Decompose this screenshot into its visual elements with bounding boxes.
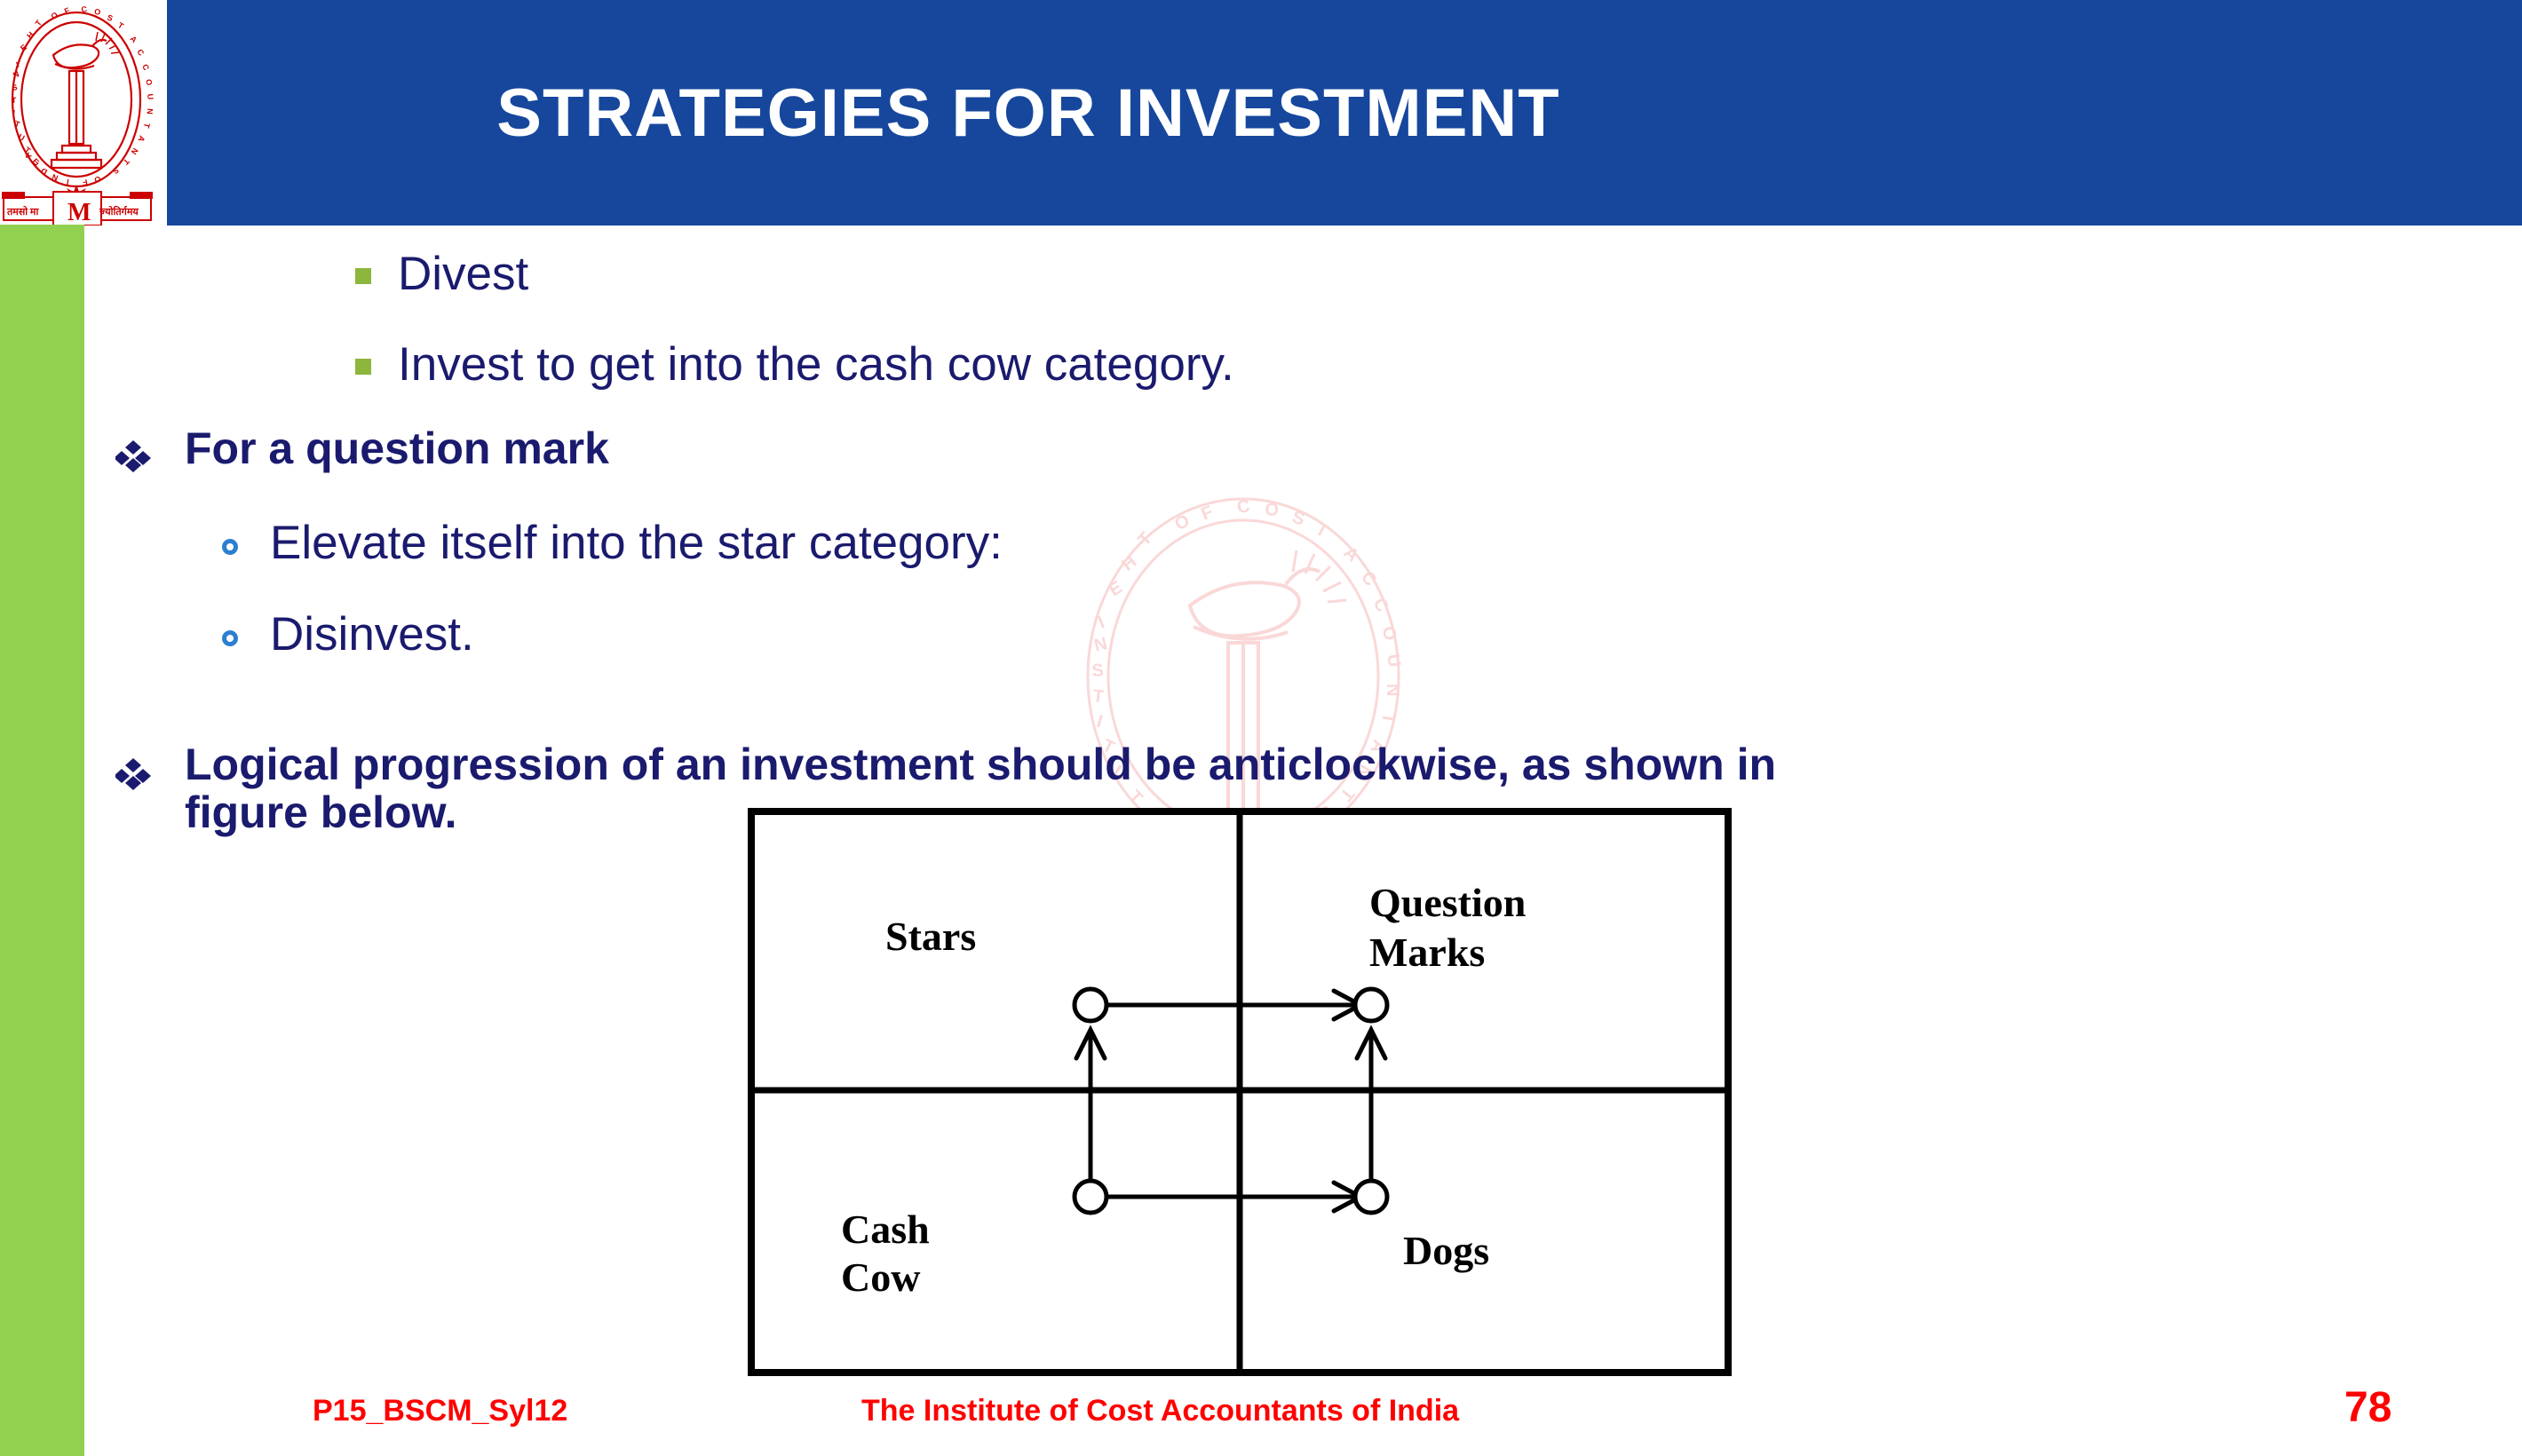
diamond-cluster-icon-svg [115, 756, 151, 792]
bullet-item-divest: Divest [355, 247, 528, 301]
institute-logo: T H E I N S T I T U T E O F C O S T A C … [0, 0, 165, 226]
title-bar: STRATEGIES FOR INVESTMENT [167, 0, 2522, 226]
svg-text:T: T [12, 96, 17, 105]
hollow-circle-bullet-icon [222, 630, 238, 646]
footer-institute-name: The Institute of Cost Accountants of Ind… [861, 1394, 1459, 1428]
node-dogs [1355, 1181, 1387, 1213]
bullet-text: Divest [398, 247, 528, 301]
svg-text:U: U [146, 93, 155, 100]
logo-banner-left: तमसो मा [6, 205, 39, 218]
svg-text:H: H [25, 30, 36, 41]
svg-text:O: O [94, 7, 101, 17]
slide-footer: P15_BSCM_Syl12 The Institute of Cost Acc… [0, 1394, 2522, 1456]
bullet-item-disinvest: Disinvest. [222, 607, 474, 661]
hollow-circle-bullet-icon [222, 539, 238, 555]
quadrant-label-question: Question [1369, 880, 1526, 925]
svg-text:S: S [12, 83, 19, 92]
diamond-cluster-bullet-icon [115, 433, 151, 469]
diamond-cluster-bullet-icon [115, 751, 151, 787]
page-number: 78 [2344, 1383, 2391, 1432]
svg-text:T: T [116, 20, 125, 31]
quadrant-label-cash: Cash [841, 1207, 930, 1252]
node-cash-cow [1075, 1181, 1106, 1213]
svg-text:C: C [140, 63, 151, 72]
svg-text:T: T [142, 123, 152, 130]
node-stars [1075, 989, 1106, 1021]
svg-text:A: A [129, 34, 139, 44]
green-square-bullet-icon [355, 359, 371, 375]
page-title: STRATEGIES FOR INVESTMENT [167, 0, 1890, 226]
diamond-cluster-icon-svg [115, 439, 151, 474]
quadrant-label-marks: Marks [1369, 930, 1485, 975]
svg-text:N: N [130, 146, 140, 156]
node-question-marks [1355, 989, 1387, 1021]
svg-text:T: T [13, 119, 21, 129]
quadrant-label-cow: Cow [841, 1254, 920, 1300]
bcg-matrix-svg: Stars Question Marks Cash Cow Dogs [748, 808, 1732, 1376]
institute-logo-svg: T H E I N S T I T U T E O F C O S T A C … [0, 0, 165, 226]
svg-text:C: C [81, 4, 88, 14]
bullet-item-for-a-question-mark: For a question mark [115, 423, 609, 474]
bcg-matrix-figure: Stars Question Marks Cash Cow Dogs [748, 808, 1732, 1376]
svg-text:I: I [12, 108, 16, 117]
bullet-item-elevate: Elevate itself into the star category: [222, 516, 1003, 570]
bullet-text: Elevate itself into the star category: [270, 516, 1003, 570]
bullet-text: Disinvest. [270, 607, 474, 661]
logo-banner-right: ज्योतिर्गमय [99, 205, 139, 218]
svg-text:I: I [66, 178, 69, 186]
bullet-text: Invest to get into the cash cow category… [398, 337, 1234, 392]
svg-text:N: N [146, 108, 155, 115]
green-square-bullet-icon [355, 268, 371, 284]
svg-text:C: C [135, 48, 146, 58]
svg-text:N: N [51, 172, 59, 183]
bullet-text: For a question mark [185, 423, 609, 474]
bullet-item-invest: Invest to get into the cash cow category… [355, 337, 1234, 392]
svg-text:N: N [12, 69, 20, 80]
svg-text:A: A [136, 134, 147, 143]
svg-text:S: S [106, 12, 114, 22]
quadrant-label-stars: Stars [885, 914, 976, 959]
footer-subject-code: P15_BSCM_Syl12 [313, 1394, 567, 1428]
logo-monogram: M [67, 199, 91, 226]
svg-text:O: O [144, 78, 154, 86]
quadrant-label-dogs: Dogs [1403, 1228, 1489, 1273]
